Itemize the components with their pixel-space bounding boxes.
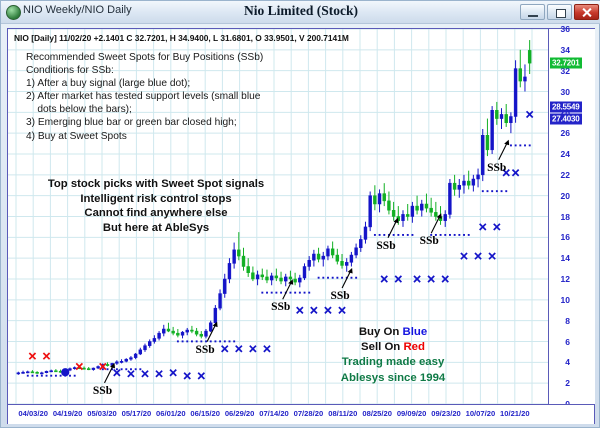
date-tick-label: 07/28/20 (294, 409, 324, 418)
date-tick-label: 10/21/20 (500, 409, 530, 418)
ssb-annotation: SSb (271, 301, 290, 313)
date-tick-label: 08/11/20 (328, 409, 357, 418)
price-tick-label: 30 (561, 87, 570, 97)
date-tick-label: 06/15/20 (190, 409, 220, 418)
price-highlight-label: 27.4030 (550, 113, 582, 124)
price-tick-label: 16 (561, 232, 570, 242)
date-tick-label: 09/23/20 (431, 409, 461, 418)
tagline-buy-label: Buy On (359, 326, 403, 338)
date-tick-label: 04/19/20 (53, 409, 83, 418)
price-tick-label: 10 (561, 295, 570, 305)
ssb-annotation: SSb (487, 162, 506, 174)
price-highlight-label: 28.5549 (550, 101, 582, 112)
page-title: Nio Limited (Stock) (1, 3, 600, 19)
price-tick-label: 14 (561, 253, 570, 263)
date-axis: 04/03/2004/19/2005/03/2005/17/2006/01/20… (8, 404, 594, 424)
minimize-icon (528, 15, 538, 17)
sweet-spot-conditions: Recommended Sweet Spots for Buy Position… (26, 51, 263, 143)
price-tick-label: 20 (561, 191, 570, 201)
price-tick-label: 24 (561, 149, 570, 159)
date-tick-label: 04/03/20 (18, 409, 48, 418)
tagline-block: Buy On Blue Sell On Red Trading made eas… (308, 325, 478, 386)
application-window: NIO Weekly/NIO Daily Nio Limited (Stock)… (0, 0, 600, 428)
date-tick-label: 06/29/20 (225, 409, 255, 418)
price-tick-label: 22 (561, 170, 570, 180)
date-tick-label: 07/14/20 (259, 409, 289, 418)
ssb-annotation: SSb (331, 290, 350, 302)
tagline-buy-color: Blue (402, 326, 427, 338)
price-highlight-label: 32.7201 (550, 58, 582, 69)
maximize-icon (556, 9, 566, 18)
price-tick-label: 26 (561, 128, 570, 138)
date-tick-label: 05/17/20 (122, 409, 152, 418)
tagline-sell-label: Sell On (361, 341, 403, 353)
price-tick-label: 18 (561, 212, 570, 222)
price-tick-label: 12 (561, 274, 570, 284)
price-axis: 02468101214161820222426283032343632.7201… (548, 29, 595, 404)
chart-frame: NIO [Daily] 11/02/20 +2.1401 C 32.7201, … (7, 28, 595, 424)
price-tick-label: 8 (565, 316, 570, 326)
tagline-sell: Sell On Red (308, 340, 478, 355)
price-plot[interactable]: NIO [Daily] 11/02/20 +2.1401 C 32.7201, … (8, 29, 548, 404)
close-button[interactable] (574, 4, 599, 20)
date-tick-label: 09/09/20 (397, 409, 427, 418)
price-tick-label: 36 (561, 24, 570, 34)
promo-text: Top stock picks with Sweet Spot signals … (26, 177, 286, 235)
price-tick-label: 6 (565, 337, 570, 347)
price-tick-label: 2 (565, 378, 570, 388)
date-tick-label: 05/03/20 (87, 409, 117, 418)
date-tick-label: 08/25/20 (362, 409, 392, 418)
price-tick-label: 34 (561, 45, 570, 55)
maximize-button[interactable] (547, 4, 572, 20)
quote-line: NIO [Daily] 11/02/20 +2.1401 C 32.7201, … (14, 33, 349, 43)
date-tick-label: 10/07/20 (466, 409, 496, 418)
title-bar: NIO Weekly/NIO Daily Nio Limited (Stock) (1, 1, 600, 24)
ssb-annotation: SSb (196, 344, 215, 356)
ssb-annotation: SSb (420, 235, 439, 247)
price-tick-label: 4 (565, 357, 570, 367)
minimize-button[interactable] (520, 4, 545, 20)
date-tick-label: 06/01/20 (156, 409, 186, 418)
tagline-buy: Buy On Blue (308, 325, 478, 340)
tagline-sell-color: Red (403, 341, 425, 353)
tagline-line3: Trading made easy (308, 355, 478, 370)
tagline-line4: Ablesys since 1994 (308, 371, 478, 386)
ssb-annotation: SSb (93, 385, 112, 397)
ssb-annotation: SSb (376, 240, 395, 252)
